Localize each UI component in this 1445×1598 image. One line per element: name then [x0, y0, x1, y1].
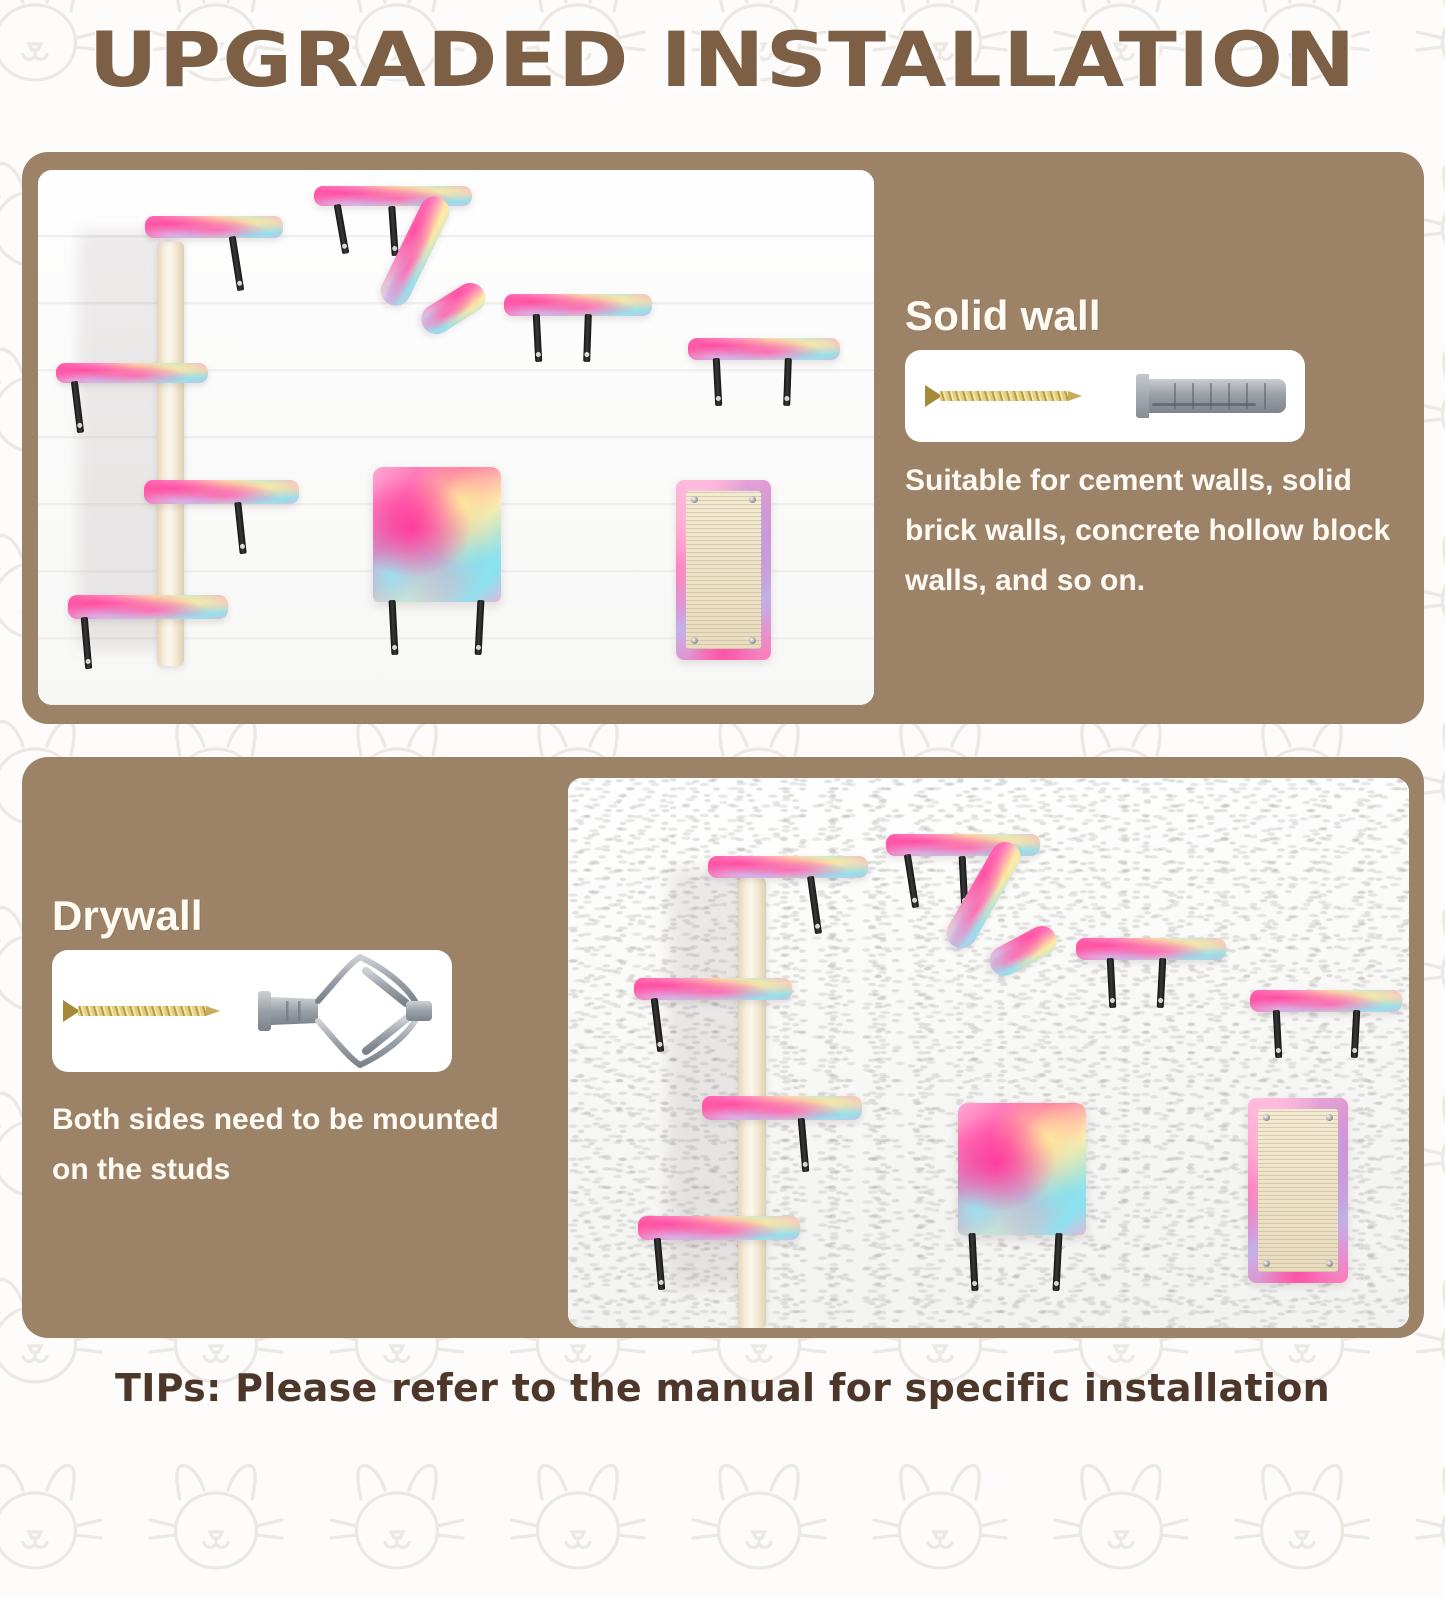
solid-wall-hardware-card — [905, 350, 1305, 442]
drywall-heading: Drywall — [52, 892, 203, 940]
toggle-butterfly-anchor-icon — [256, 951, 441, 1071]
cat-face-watermark — [1408, 1448, 1445, 1598]
wood-screw-icon — [63, 1000, 235, 1022]
plush-shelf-right — [688, 338, 840, 360]
cat-face-watermark — [1227, 1448, 1377, 1598]
plush-hammock — [373, 467, 501, 602]
plush-shelf-ramp-end — [504, 294, 652, 316]
sisal-scratching-pad — [1248, 1098, 1348, 1283]
drywall-hardware-card — [52, 950, 452, 1072]
sisal-scratching-pad — [676, 480, 771, 660]
solid-wall-heading: Solid wall — [905, 292, 1101, 340]
plush-shelf-ramp-top — [314, 186, 472, 206]
drywall-description: Both sides need to be mounted on the stu… — [52, 1095, 522, 1195]
plush-hammock — [958, 1103, 1086, 1235]
cat-face-watermark — [865, 1448, 1015, 1598]
plush-shelf-right — [1250, 990, 1402, 1012]
plush-shelf-mid — [144, 480, 299, 504]
wood-screw-icon — [925, 385, 1097, 407]
cat-face-watermark — [141, 1448, 291, 1598]
plastic-expansion-anchor-icon — [1136, 379, 1286, 413]
page-title: UPGRADED INSTALLATION — [0, 12, 1445, 108]
solid-wall-description: Suitable for cement walls, solid brick w… — [905, 456, 1405, 606]
cat-face-watermark — [1046, 1448, 1196, 1598]
plush-shelf-mid — [702, 1096, 862, 1120]
tips-text: TIPs: Please refer to the manual for spe… — [0, 1362, 1445, 1414]
plush-shelf-left — [634, 978, 792, 1000]
plush-shelf-bottom — [638, 1216, 800, 1240]
cat-face-watermark — [0, 1448, 110, 1598]
cat-face-watermark — [684, 1448, 834, 1598]
plush-shelf-top — [145, 216, 283, 238]
plush-shelf-bottom — [68, 595, 228, 619]
cat-face-watermark — [322, 1448, 472, 1598]
plush-shelf-top — [708, 856, 868, 878]
sisal-surface — [1258, 1109, 1338, 1272]
plush-shelf-ramp-end — [1076, 938, 1226, 960]
cat-face-watermark — [503, 1448, 653, 1598]
drywall-photo — [568, 778, 1409, 1328]
solid-wall-photo — [38, 170, 874, 705]
plush-shelf-left-upper — [56, 363, 208, 383]
sisal-surface — [686, 491, 761, 649]
